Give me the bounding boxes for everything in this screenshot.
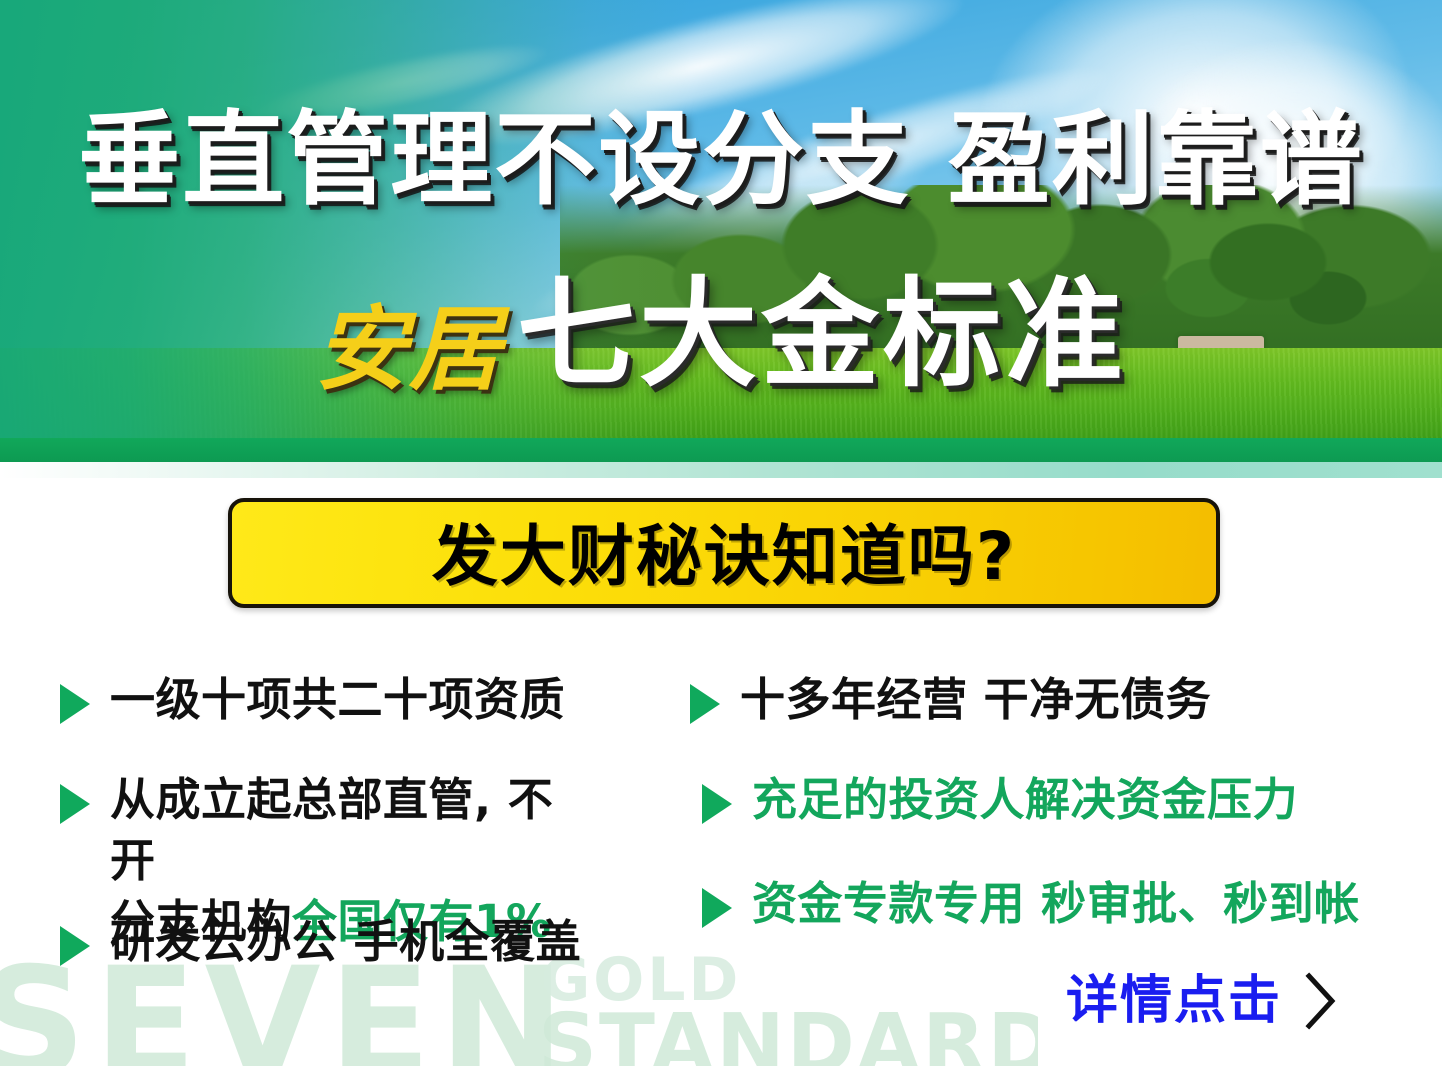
list-item-label: 十多年经营 干净无债务 [740,670,1211,731]
highlight-question-text: 发大财秘诀知道吗? [432,503,1016,599]
list-item: 资金专款专用 秒审批、秒到帐 [702,874,1360,935]
chevron-right-icon [1304,972,1338,1030]
triangle-right-icon [690,684,720,724]
watermark-standards-text: STANDARDS [538,1004,1038,1066]
hero-section: 垂直管理不设分支 盈利靠谱 安居七大金标准 [0,0,1442,462]
list-item: 十多年经营 干净无债务 [690,670,1211,731]
triangle-right-icon [702,784,732,824]
list-item-label: 研发云办公 手机全覆盖 [110,912,581,973]
list-item: 研发云办公 手机全覆盖 [60,912,581,973]
list-item: 充足的投资人解决资金压力 [702,770,1298,831]
hero-headline-primary: 垂直管理不设分支 盈利靠谱 [0,108,1442,214]
hero-fade-divider [0,462,1442,478]
list-item-label: 一级十项共二十项资质 [110,670,565,731]
highlight-question-banner[interactable]: 发大财秘诀知道吗? [228,498,1220,608]
details-cta-button[interactable]: 详情点击 [1066,972,1338,1030]
list-item-line-1: 从成立起总部直管, 不开 [110,773,553,887]
feature-list: 一级十项共二十项资质 从成立起总部直管, 不开 分支机构全国仅有1% 研发云办公… [0,612,1442,972]
list-item-label: 资金专款专用 秒审批、秒到帐 [752,874,1360,935]
hero-standards-text: 七大金标准 [517,265,1127,403]
hero-headline-secondary: 安居七大金标准 [0,275,1442,395]
list-item-label: 充足的投资人解决资金压力 [752,770,1298,831]
triangle-right-icon [702,888,732,928]
triangle-right-icon [60,926,90,966]
details-cta-label: 详情点击 [1066,975,1282,1027]
ad-banner-root: 垂直管理不设分支 盈利靠谱 安居七大金标准 发大财秘诀知道吗? SEVEN GO… [0,0,1442,1066]
hero-bottom-band [0,438,1442,462]
hero-brand-text: 安居 [315,295,503,403]
triangle-right-icon [60,784,90,824]
list-item: 一级十项共二十项资质 [60,670,565,731]
triangle-right-icon [60,684,90,724]
